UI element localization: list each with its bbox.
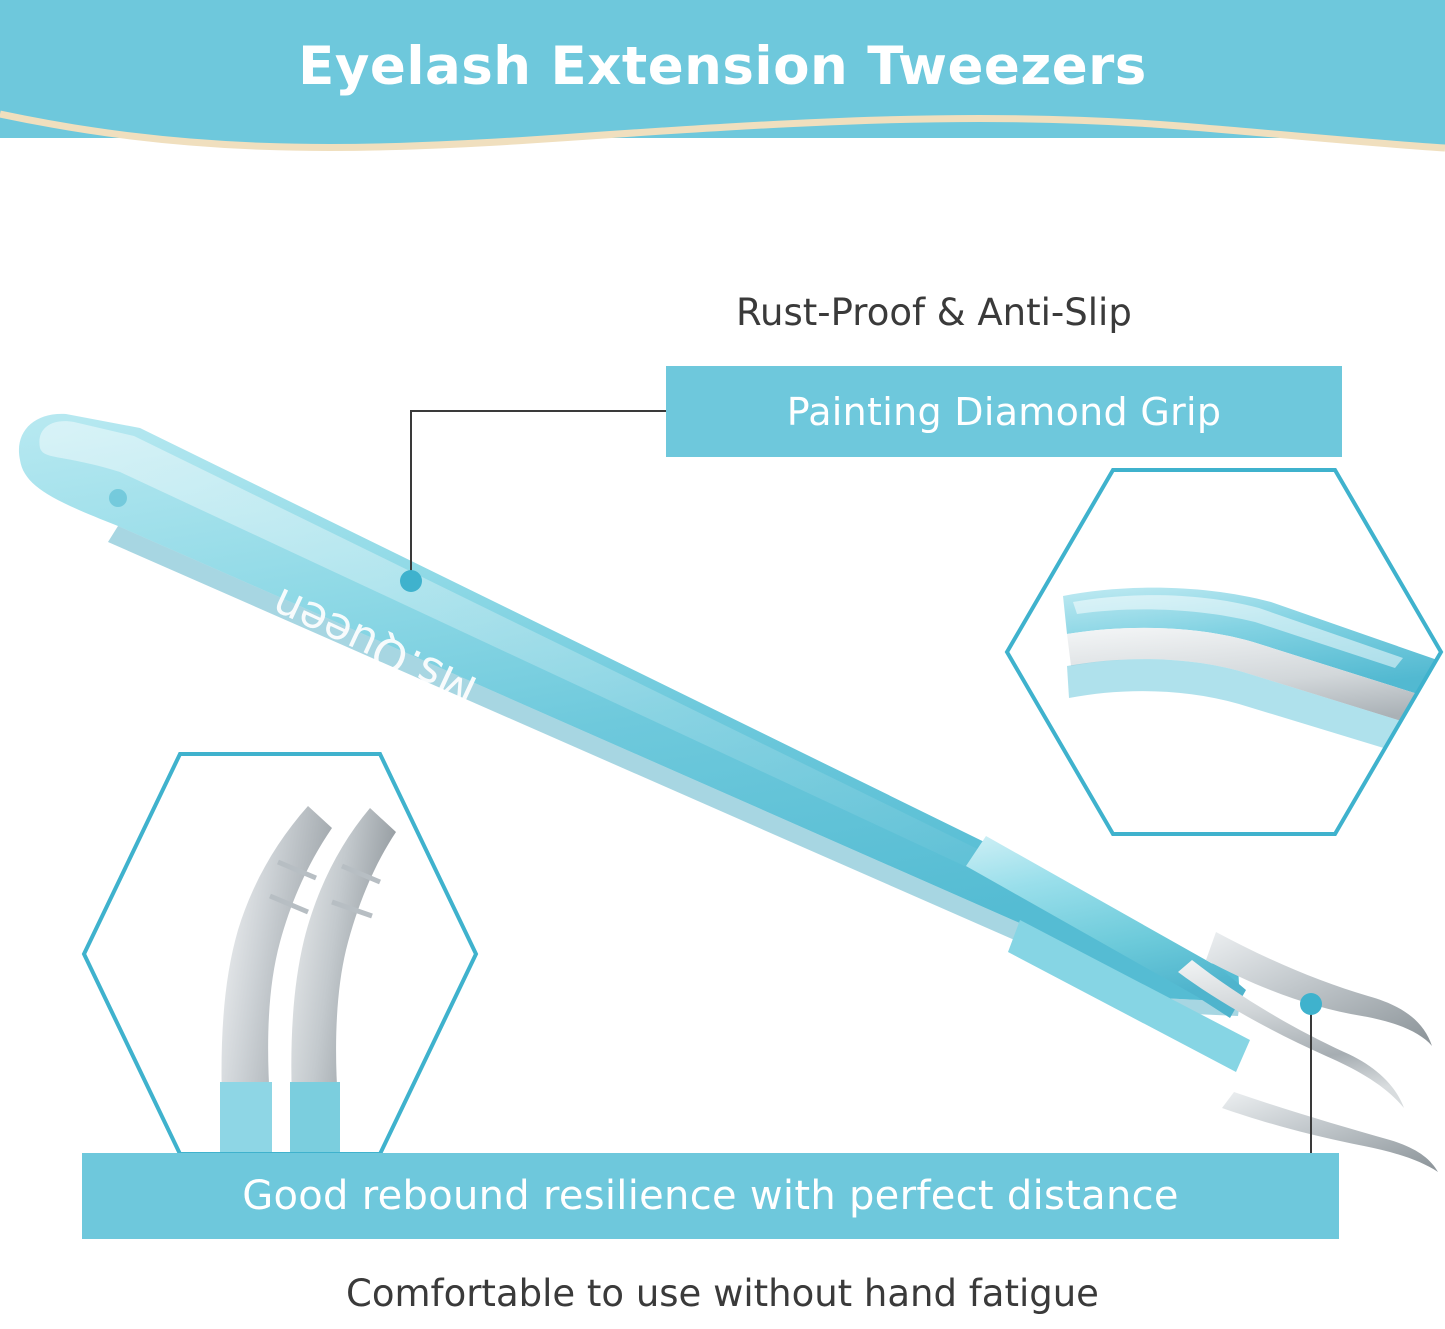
label-rust-proof: Rust-Proof & Anti-Slip (736, 291, 1132, 334)
label-comfort: Comfortable to use without hand fatigue (0, 1272, 1445, 1315)
handle-pin-dot (109, 489, 127, 507)
tip-closeup-hexagon (80, 750, 480, 1162)
page-title: Eyelash Extension Tweezers (0, 36, 1445, 97)
grip-closeup-hexagon (1003, 466, 1445, 842)
callout-rebound: Good rebound resilience with perfect dis… (82, 1153, 1339, 1239)
product-infographic: Ms.Queen (0, 0, 1445, 1329)
callout-diamond-grip: Painting Diamond Grip (666, 366, 1342, 457)
header-wave-divider (0, 108, 1445, 178)
